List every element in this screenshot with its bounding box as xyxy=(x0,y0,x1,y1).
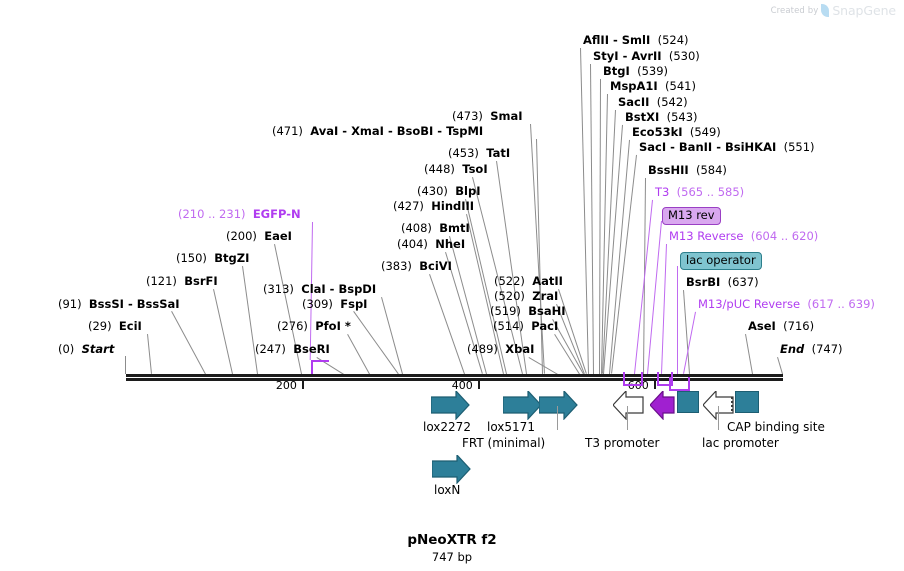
ruler-bar-top xyxy=(126,374,783,377)
enzyme-label: (29) EciI xyxy=(88,320,142,333)
enzyme-label: BtgI (539) xyxy=(603,65,668,78)
enzyme-label: StyI - AvrII (530) xyxy=(593,50,700,63)
leader-line xyxy=(147,334,152,374)
leader-line xyxy=(677,266,678,374)
snapgene-leaf-icon xyxy=(821,4,829,17)
feature-span-end xyxy=(657,372,659,386)
feature-glyph xyxy=(539,391,578,419)
enzyme-label: (150) BtgZI xyxy=(176,252,249,265)
enzyme-label: (448) TsoI xyxy=(424,163,488,176)
enzyme-label: (489) XbaI xyxy=(467,343,534,356)
feature-span-end xyxy=(688,377,690,391)
feature-label: lox2272 xyxy=(423,420,471,434)
feature-box-label: lac operator xyxy=(680,252,762,270)
created-by-label: Created by xyxy=(771,6,819,16)
feature-label-stem xyxy=(627,406,628,430)
enzyme-label: End (747) xyxy=(780,343,843,356)
feature-span-end xyxy=(623,372,625,386)
snapgene-branding: Created by SnapGene xyxy=(771,3,896,18)
feature-span-end xyxy=(669,377,671,391)
enzyme-label: (91) BssSI - BssSaI xyxy=(58,298,180,311)
feature-glyph xyxy=(613,391,644,419)
feature-span-egfp xyxy=(311,360,329,362)
ruler-tick xyxy=(654,381,656,389)
enzyme-label: (471) AvaI - XmaI - BsoBI - TspMI xyxy=(272,125,483,138)
enzyme-label: (514) PacI xyxy=(493,320,558,333)
feature-range-label: M13/pUC Reverse (617 .. 639) xyxy=(698,298,875,311)
enzyme-label: (313) ClaI - BspDI xyxy=(263,283,376,296)
feature-span-end xyxy=(641,372,643,386)
leader-line xyxy=(353,311,399,375)
feature-label: FRT (minimal) xyxy=(462,436,545,450)
feature-span-ruler xyxy=(623,384,641,386)
ruler-tick xyxy=(478,381,480,389)
feature-range-label: M13 Reverse (604 .. 620) xyxy=(669,230,818,243)
leader-line xyxy=(347,334,370,374)
enzyme-label: (210 .. 231) EGFP-N xyxy=(178,208,301,221)
enzyme-label: (0) Start xyxy=(58,343,114,356)
feature-label: loxN xyxy=(434,483,460,497)
enzyme-label: (276) PfoI * xyxy=(277,320,351,333)
enzyme-label: (309) FspI xyxy=(302,298,367,311)
leader-line xyxy=(242,266,258,374)
feature-glyph xyxy=(650,391,675,419)
enzyme-label: (404) NheI xyxy=(397,238,465,251)
enzyme-label: SacII (542) xyxy=(618,96,688,109)
leader-line xyxy=(213,289,233,374)
leader-line xyxy=(125,356,126,374)
enzyme-label: Eco53kI (549) xyxy=(632,126,721,139)
enzyme-label: AseI (716) xyxy=(748,320,814,333)
feature-label-stem xyxy=(718,406,719,430)
feature-label: CAP binding site xyxy=(727,420,825,434)
plasmid-name: pNeoXTR f2 xyxy=(0,532,904,548)
enzyme-label: BstXI (543) xyxy=(625,111,698,124)
plasmid-title-block: pNeoXTR f2 747 bp xyxy=(0,532,904,564)
enzyme-label: BsrBI (637) xyxy=(686,276,759,289)
enzyme-label: (453) TatI xyxy=(448,147,510,160)
feature-label-stem xyxy=(557,406,558,430)
enzyme-label: (408) BmtI xyxy=(401,222,470,235)
feature-range-label: T3 (565 .. 585) xyxy=(655,186,744,199)
leader-line xyxy=(590,64,594,374)
snapgene-wordmark: SnapGene xyxy=(832,3,896,18)
ruler-tick-label: 200 xyxy=(276,379,297,392)
leader-line xyxy=(599,79,601,374)
leader-line xyxy=(381,297,403,374)
enzyme-label: SacI - BanII - BsiHKAI (551) xyxy=(639,141,815,154)
feature-box-label: M13 rev xyxy=(662,207,721,225)
leader-line xyxy=(745,334,753,374)
enzyme-label: (522) AatII xyxy=(494,275,563,288)
leader-line xyxy=(777,357,783,374)
feature-glyph xyxy=(431,391,470,419)
enzyme-label: (430) BlpI xyxy=(417,185,480,198)
enzyme-label: (121) BsrFI xyxy=(146,275,218,288)
leader-line xyxy=(647,221,662,374)
feature-glyph xyxy=(677,391,699,419)
feature-label: lox5171 xyxy=(487,420,535,434)
enzyme-label: MspA1I (541) xyxy=(610,80,696,93)
enzyme-label: (519) BsaHI xyxy=(490,305,566,318)
leader-line xyxy=(171,311,206,374)
leader-line xyxy=(661,244,667,374)
enzyme-label: (200) EaeI xyxy=(226,230,292,243)
enzyme-label: (473) SmaI xyxy=(452,110,523,123)
plasmid-length: 747 bp xyxy=(0,550,904,564)
enzyme-label: BssHII (584) xyxy=(648,164,727,177)
feature-glyph xyxy=(432,455,471,483)
ruler-tick xyxy=(302,381,304,389)
feature-span-end xyxy=(671,372,673,386)
plasmid-map-canvas: Created by SnapGene (0) Start(29) EciI(9… xyxy=(0,0,904,571)
enzyme-label: (247) BseRI xyxy=(255,343,330,356)
feature-span-egfp-tick xyxy=(311,360,313,374)
enzyme-label: (520) ZraI xyxy=(494,290,558,303)
leader-line xyxy=(429,274,465,374)
leader-line xyxy=(580,48,589,374)
leader-line xyxy=(683,290,690,374)
enzyme-label: AflII - SmlI (524) xyxy=(583,34,689,47)
enzyme-label: (427) HindIII xyxy=(393,200,474,213)
feature-glyph xyxy=(735,391,759,419)
feature-label: lac promoter xyxy=(702,436,779,450)
enzyme-label: (383) BciVI xyxy=(381,260,452,273)
feature-label: T3 promoter xyxy=(585,436,659,450)
feature-glyph xyxy=(503,391,542,419)
